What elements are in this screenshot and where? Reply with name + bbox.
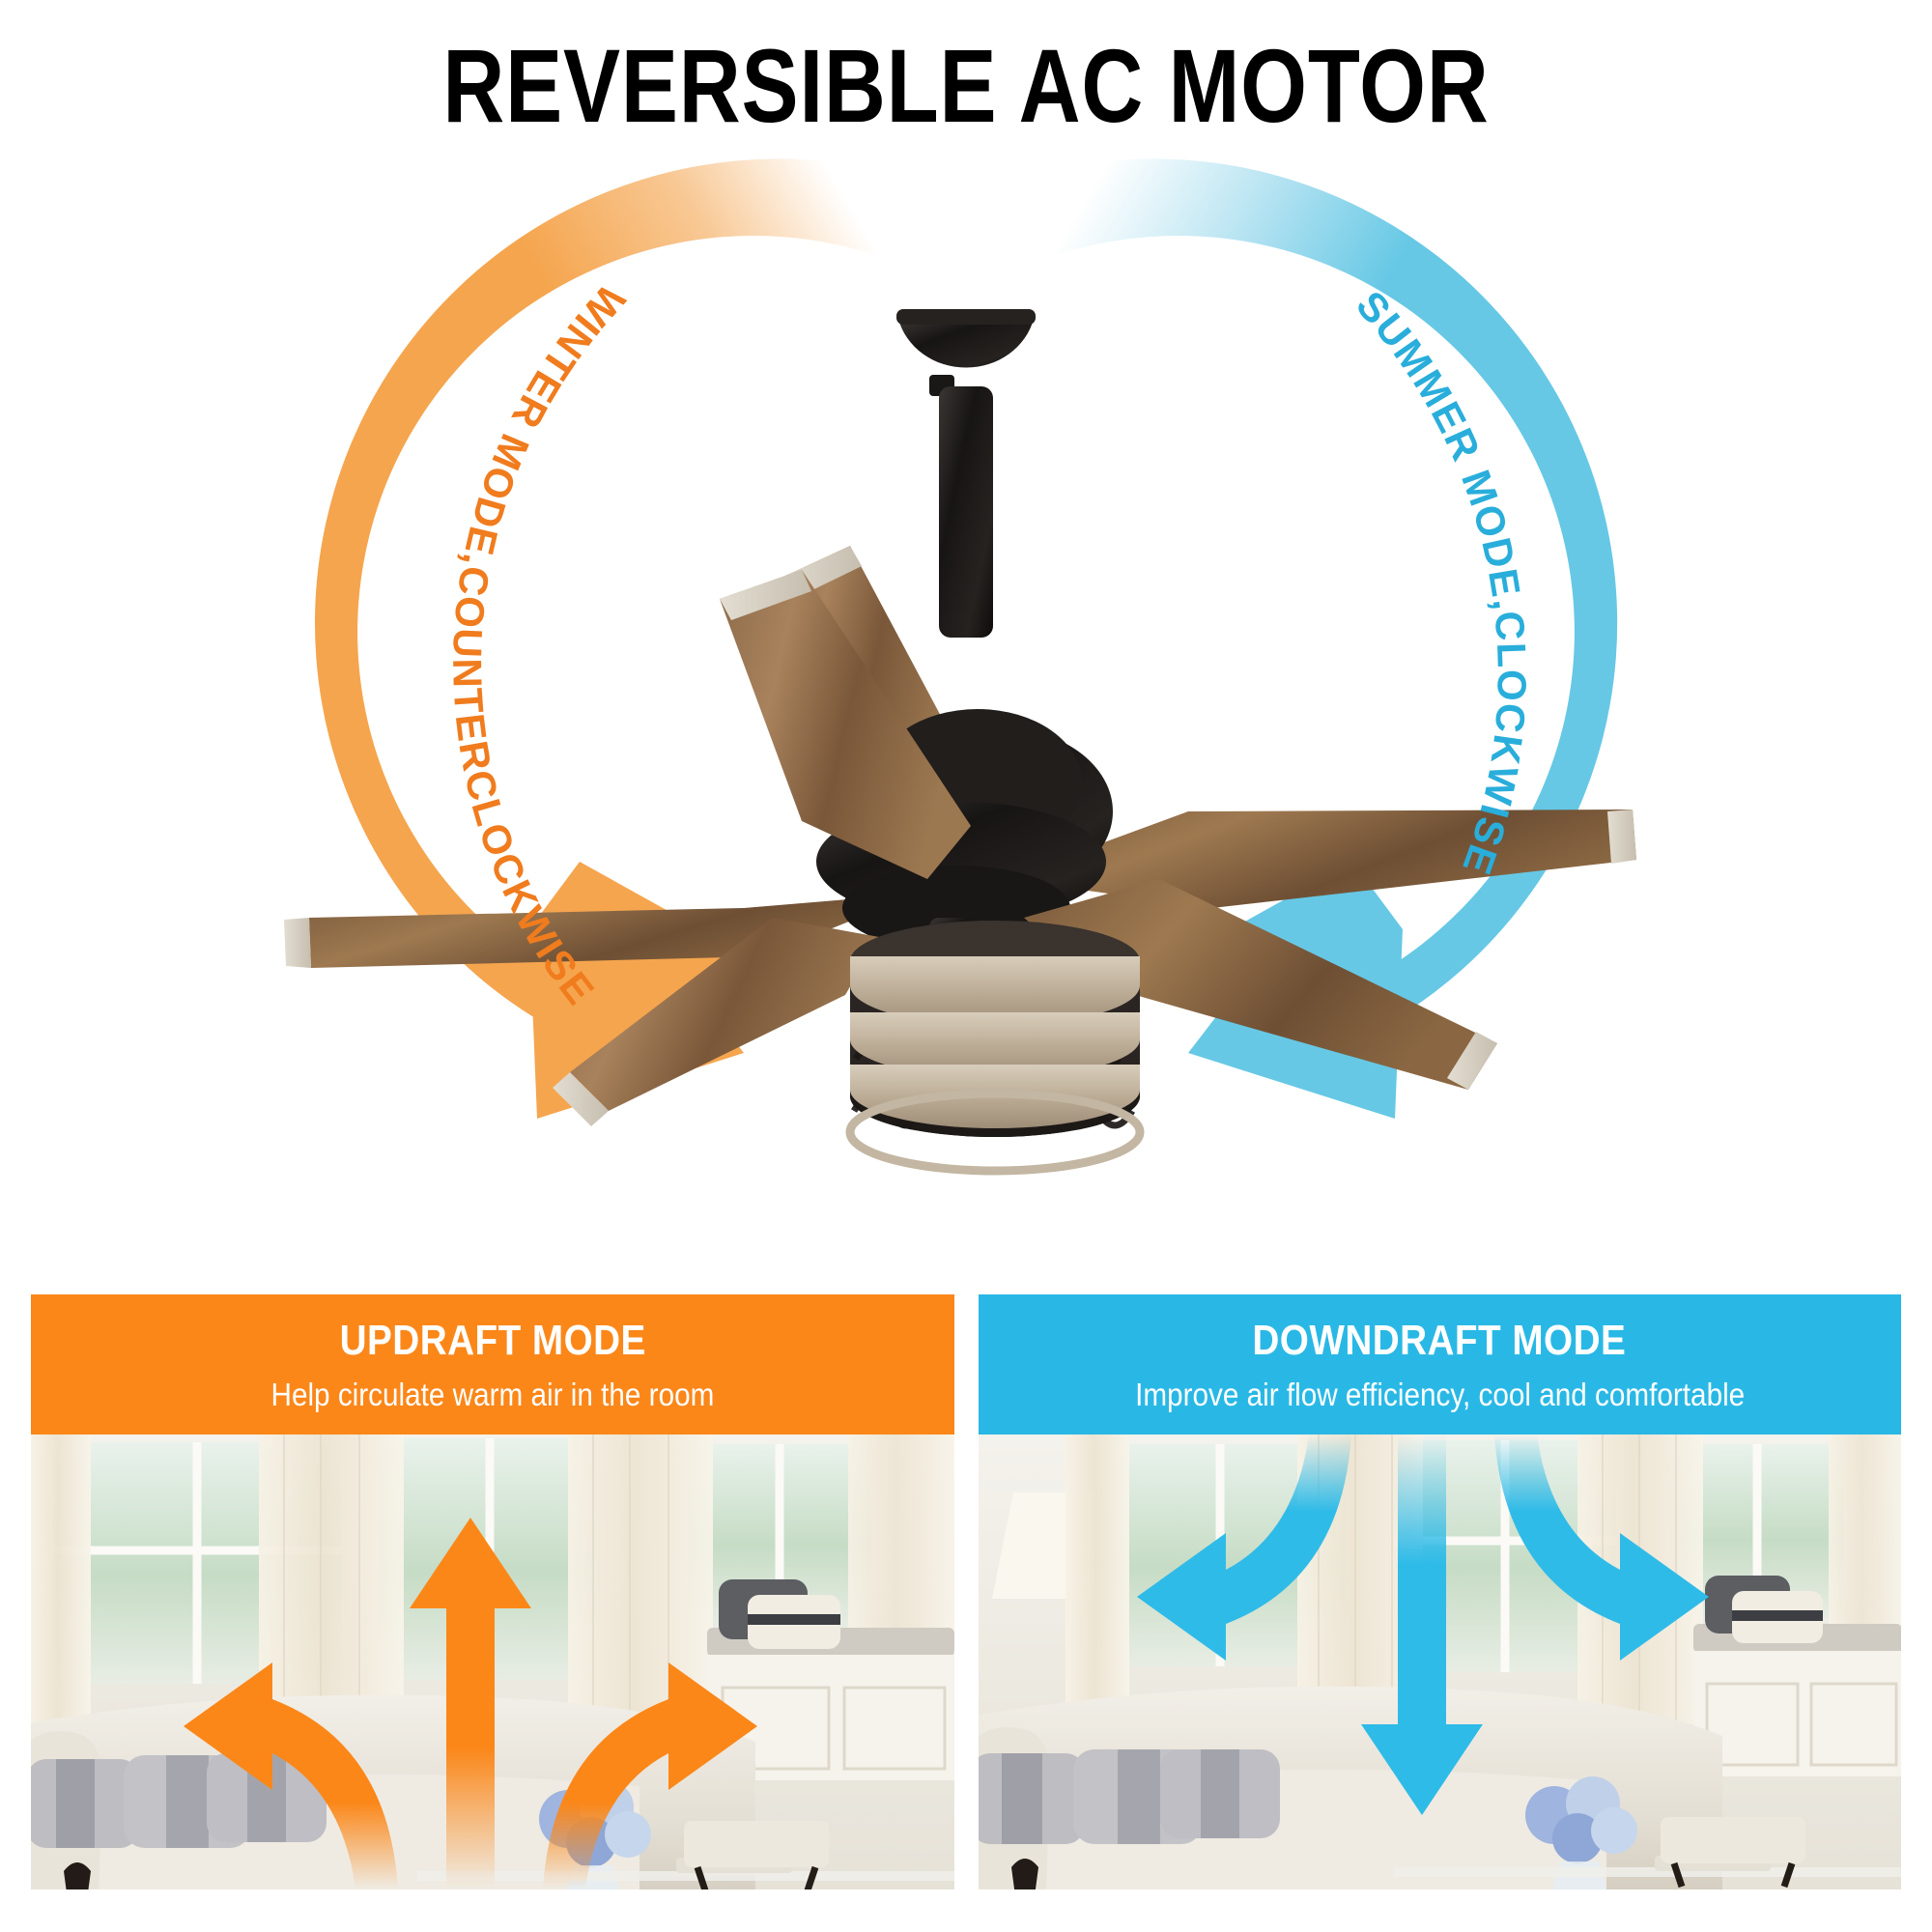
- sofa-pillow-3: [1160, 1749, 1280, 1838]
- mode-comparison-panels: UPDRAFT MODE Help circulate warm air in …: [31, 1294, 1901, 1889]
- hero-diagram: WINTER MODE,COUNTERCLOCKWISE SUMMER MODE…: [0, 145, 1932, 1256]
- panel-updraft-photo: [31, 1435, 954, 1889]
- winter-mode-label: WINTER MODE,COUNTERCLOCKWISE: [444, 276, 634, 1014]
- sofa-pillow-1: [979, 1753, 1085, 1844]
- panel-updraft: UPDRAFT MODE Help circulate warm air in …: [31, 1294, 954, 1889]
- page-title: REVERSIBLE AC MOTOR: [174, 25, 1758, 146]
- panel-downdraft: DOWNDRAFT MODE Improve air flow efficien…: [979, 1294, 1902, 1889]
- living-room-scene-updraft: [31, 1435, 954, 1889]
- panel-downdraft-subtitle: Improve air flow efficiency, cool and co…: [1135, 1377, 1745, 1413]
- sofa-pillow-1: [31, 1759, 139, 1848]
- panel-downdraft-header: DOWNDRAFT MODE Improve air flow efficien…: [979, 1294, 1902, 1435]
- panel-updraft-header: UPDRAFT MODE Help circulate warm air in …: [31, 1294, 954, 1435]
- panel-downdraft-photo: [979, 1435, 1902, 1889]
- infographic-page: REVERSIBLE AC MOTOR: [0, 0, 1932, 1932]
- winter-mode-label-text: WINTER MODE,COUNTERCLOCKWISE: [444, 276, 634, 1014]
- summer-mode-label: SUMMER MODE,CLOCKWISE: [1348, 282, 1535, 881]
- summer-mode-label-text: SUMMER MODE,CLOCKWISE: [1348, 282, 1535, 881]
- mode-labels: WINTER MODE,COUNTERCLOCKWISE SUMMER MODE…: [0, 145, 1932, 1256]
- panel-downdraft-title: DOWNDRAFT MODE: [1253, 1317, 1627, 1365]
- panel-updraft-title: UPDRAFT MODE: [339, 1317, 645, 1365]
- panel-updraft-subtitle: Help circulate warm air in the room: [270, 1377, 714, 1413]
- living-room-scene-downdraft: [979, 1435, 1902, 1889]
